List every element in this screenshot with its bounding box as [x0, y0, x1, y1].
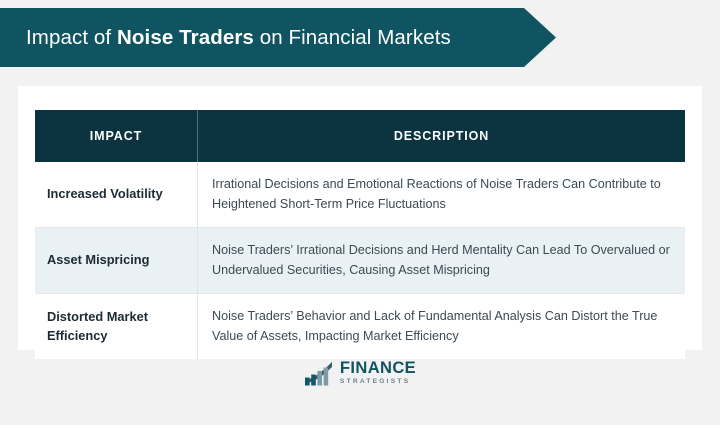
cell-impact: Distorted Market Efficiency	[35, 294, 198, 360]
column-header-impact: IMPACT	[35, 110, 198, 162]
page-title-suffix: on Financial Markets	[254, 26, 451, 49]
brand-logo: FINANCE STRATEGISTS	[0, 360, 720, 386]
page-title-prefix: Impact of	[26, 26, 117, 49]
table-row: Increased Volatility Irrational Decision…	[35, 162, 685, 228]
cell-impact: Asset Mispricing	[35, 228, 198, 294]
page-title: Impact of Noise Traders on Financial Mar…	[0, 26, 451, 50]
cell-impact: Increased Volatility	[35, 162, 198, 228]
cell-description: Noise Traders’ Behavior and Lack of Fund…	[198, 294, 686, 360]
header-banner: Impact of Noise Traders on Financial Mar…	[0, 8, 560, 67]
table-row: Asset Mispricing Noise Traders’ Irration…	[35, 228, 685, 294]
cell-description: Noise Traders’ Irrational Decisions and …	[198, 228, 686, 294]
logo-secondary-text: STRATEGISTS	[340, 379, 416, 386]
banner-shape: Impact of Noise Traders on Financial Mar…	[0, 8, 560, 67]
table-row: Distorted Market Efficiency Noise Trader…	[35, 294, 685, 360]
bar-chart-arrow-icon	[304, 360, 334, 386]
table-header-row: IMPACT DESCRIPTION	[35, 110, 685, 162]
cell-description: Irrational Decisions and Emotional React…	[198, 162, 686, 228]
impact-description-table: IMPACT DESCRIPTION Increased Volatility …	[35, 110, 685, 359]
logo-primary-text: FINANCE	[340, 360, 416, 377]
table-body: Increased Volatility Irrational Decision…	[35, 162, 685, 359]
page-title-emphasis: Noise Traders	[117, 26, 254, 49]
column-header-description: DESCRIPTION	[198, 110, 686, 162]
logo-text-block: FINANCE STRATEGISTS	[340, 360, 416, 385]
table-header: IMPACT DESCRIPTION	[35, 110, 685, 162]
